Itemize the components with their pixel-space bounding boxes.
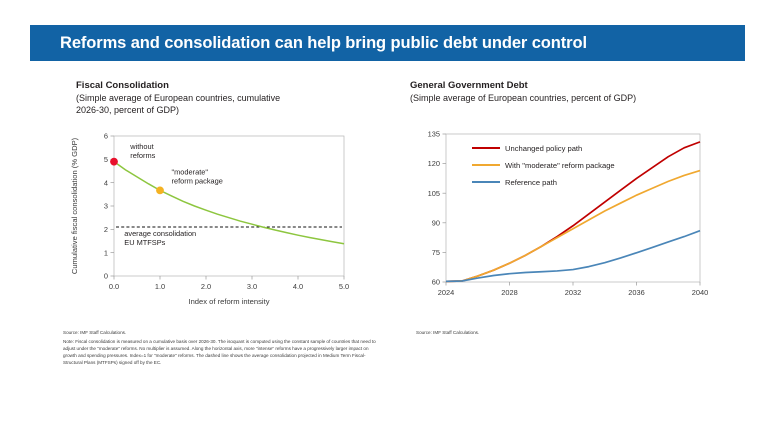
left-chart-title: Fiscal Consolidation [76,80,406,92]
fiscal-consolidation-svg: 0123456 0.01.02.03.04.05.0 withoutreform… [66,126,396,311]
left-chart-header: Fiscal Consolidation (Simple average of … [76,80,406,116]
right-chart-footnote: Source: IMF Staff Calculations. [416,329,736,336]
marker-moderate-reform-package [156,187,163,194]
x-tick-label: 2036 [628,288,644,297]
y-tick-label: 90 [432,218,440,227]
y-tick-label: 75 [432,248,440,257]
y-tick-label: 4 [104,178,108,187]
legend-label: Reference path [505,178,557,187]
x-tick-label: 2032 [565,288,581,297]
y-tick-label: 2 [104,225,108,234]
y-tick-label: 105 [428,189,440,198]
y-tick-label: 3 [104,202,108,211]
y-tick-label: 60 [432,278,440,287]
left-chart-source: Source: IMF Staff Calculations. [63,329,383,336]
left-chart-subtitle-line2: 2026-30, percent of GDP) [76,105,406,116]
legend-label: Unchanged policy path [505,144,582,153]
right-chart-header: General Government Debt (Simple average … [410,80,750,104]
x-tick-label: 1.0 [155,282,165,291]
annotation-average-consolidation: average consolidation [124,229,196,238]
y-tick-label: 5 [104,155,108,164]
government-debt-chart: 607590105120135 20242028203220362040 Unc… [414,126,734,306]
annotation-moderate-reform-package: "moderate" [172,168,209,177]
annotation-without-reforms: reforms [130,151,155,160]
y-tick-label: 6 [104,132,108,141]
x-tick-label: 3.0 [247,282,257,291]
y-tick-label: 1 [104,248,108,257]
legend-label: With "moderate" reform package [505,161,615,170]
slide-canvas: Reforms and consolidation can help bring… [0,0,775,421]
plot-area-border [446,134,700,282]
x-tick-label: 2024 [438,288,454,297]
y-tick-label: 135 [428,130,440,139]
right-chart-source: Source: IMF Staff Calculations. [416,329,736,336]
y-tick-label: 0 [104,272,108,281]
fiscal-consolidation-chart: 0123456 0.01.02.03.04.05.0 withoutreform… [66,126,396,311]
annotation-moderate-reform-package: reform package [172,177,223,186]
y-axis-ticks: 0123456 [104,132,114,281]
left-chart-note: Note: Fiscal consolidation is measured o… [63,338,383,367]
x-tick-label: 4.0 [293,282,303,291]
x-tick-label: 2028 [501,288,517,297]
y-axis-ticks: 607590105120135 [428,130,446,287]
x-tick-label: 2.0 [201,282,211,291]
annotation-average-consolidation: EU MTFSPs [124,238,165,247]
page-title: Reforms and consolidation can help bring… [60,34,587,53]
x-tick-label: 5.0 [339,282,349,291]
annotation-without-reforms: without [129,142,153,151]
government-debt-svg: 607590105120135 20242028203220362040 Unc… [414,126,734,306]
left-chart-subtitle-line1: (Simple average of European countries, c… [76,93,406,104]
y-tick-label: 120 [428,159,440,168]
slide-title-banner: Reforms and consolidation can help bring… [30,25,745,61]
left-chart-footnote: Source: IMF Staff Calculations. Note: Fi… [63,329,383,366]
marker-without-reforms [110,158,117,165]
x-tick-label: 2040 [692,288,708,297]
x-axis-ticks: 0.01.02.03.04.05.0 [109,276,349,291]
x-axis-title: Index of reform intensity [188,297,269,306]
x-axis-ticks: 20242028203220362040 [438,282,708,297]
right-chart-title: General Government Debt [410,80,750,92]
right-chart-subtitle: (Simple average of European countries, p… [410,93,750,104]
x-tick-label: 0.0 [109,282,119,291]
y-axis-title: Cumulative fiscal consolidation (% GDP) [70,137,79,274]
